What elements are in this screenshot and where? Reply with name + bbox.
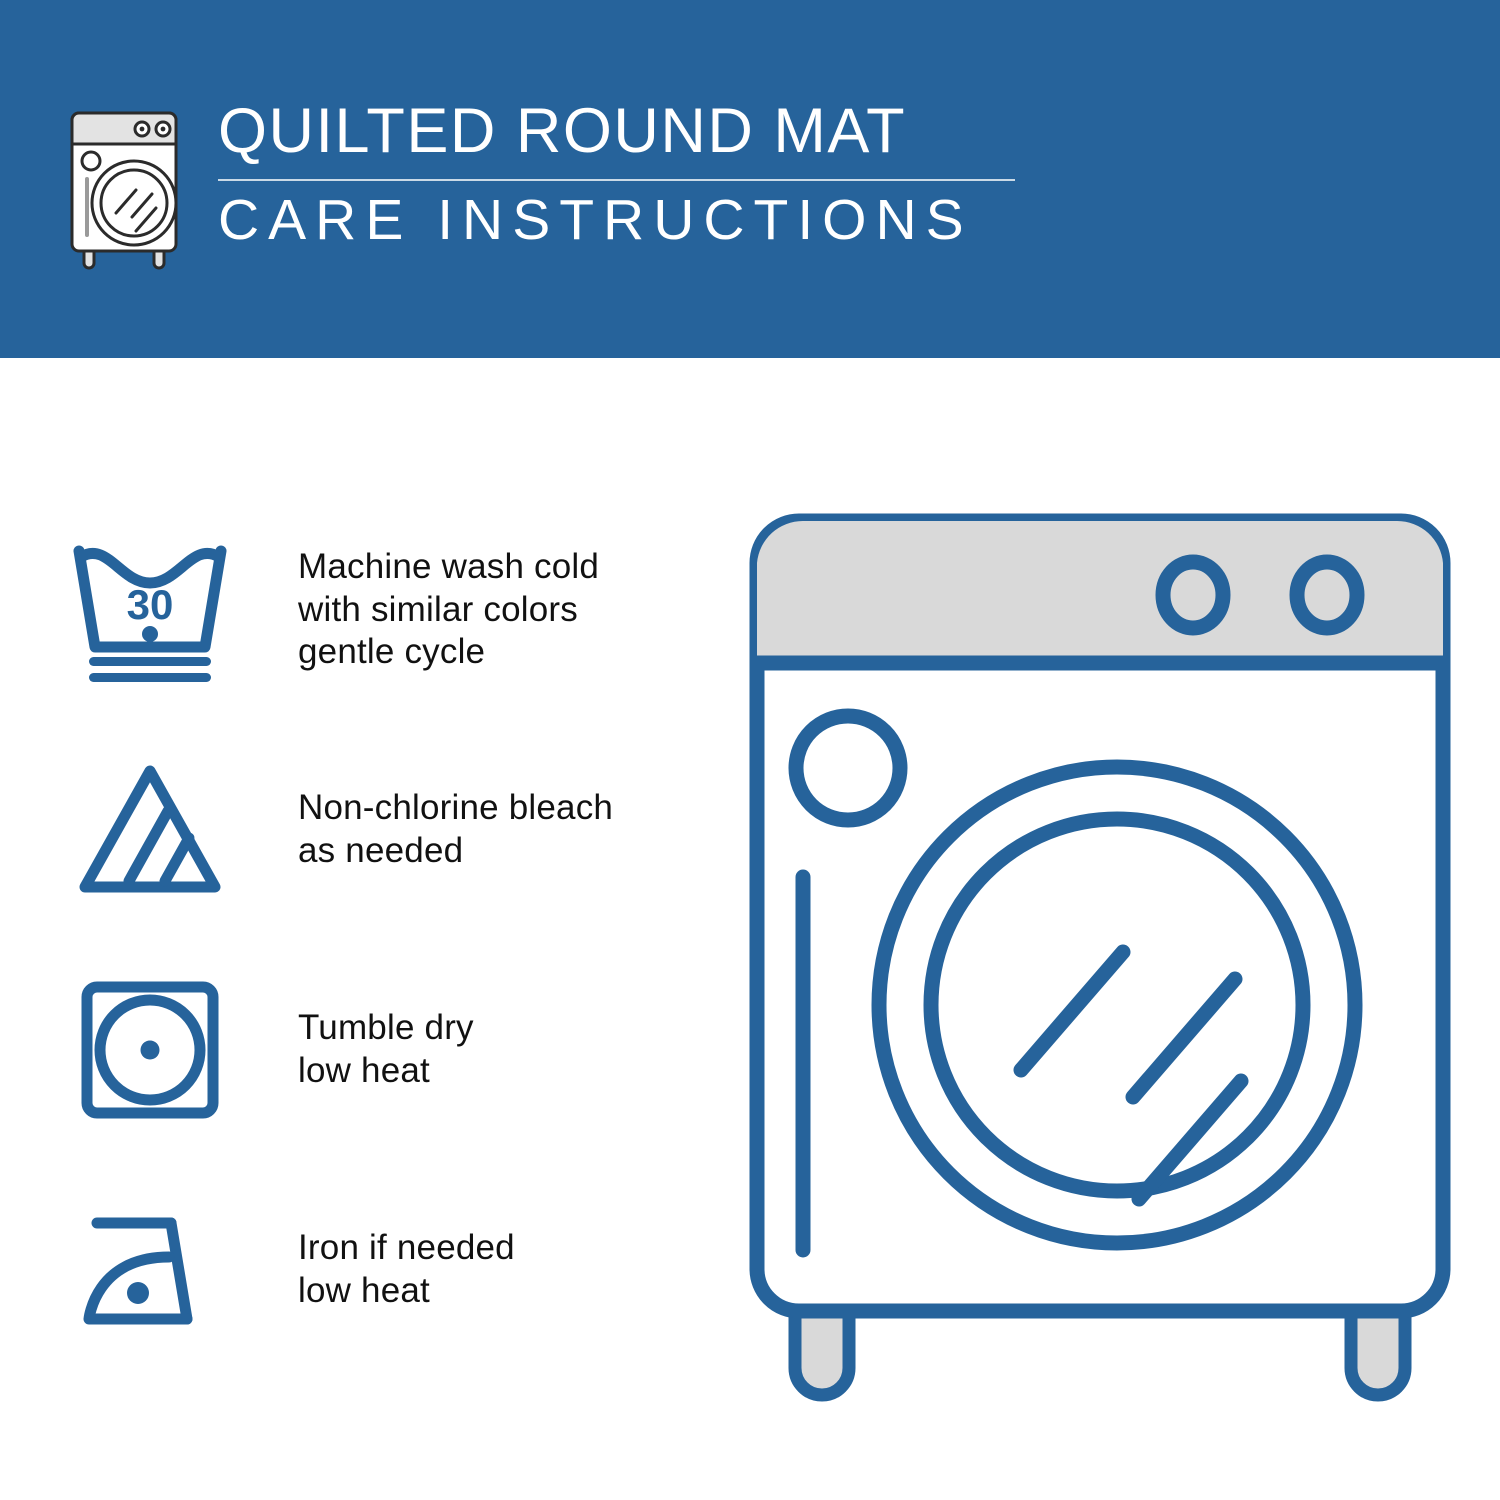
non-chlorine-bleach-triangle-icon (60, 755, 240, 905)
tumble-dry-low-icon (60, 975, 240, 1125)
iron-low-heat-icon (60, 1195, 240, 1345)
care-line: as needed (298, 830, 613, 873)
washer-knob-left (1163, 562, 1223, 628)
care-text-tumble-dry: Tumble dry low heat (298, 1007, 474, 1092)
page-title: QUILTED ROUND MAT (218, 100, 1018, 163)
care-row-bleach: Non-chlorine bleach as needed (60, 720, 740, 940)
care-row-tumble-dry: Tumble dry low heat (60, 940, 740, 1160)
care-line: Non-chlorine bleach (298, 787, 613, 830)
title-divider (218, 179, 1015, 181)
care-line: Tumble dry (298, 1007, 474, 1050)
washer-knob-right (1297, 562, 1357, 628)
wash-tub-30-icon: 30 (60, 535, 240, 685)
care-line: low heat (298, 1270, 515, 1313)
care-text-iron: Iron if needed low heat (298, 1227, 515, 1312)
care-instruction-list: 30 Machine wash cold with similar colors… (60, 500, 740, 1380)
care-line: Machine wash cold (298, 546, 599, 589)
washer-dispenser-icon (796, 716, 900, 820)
care-row-iron: Iron if needed low heat (60, 1160, 740, 1380)
care-line: with similar colors (298, 589, 599, 632)
care-row-machine-wash: 30 Machine wash cold with similar colors… (60, 500, 740, 720)
header-title-block: QUILTED ROUND MAT CARE INSTRUCTIONS (218, 100, 1018, 251)
washing-machine-icon (62, 105, 192, 270)
page-subtitle: CARE INSTRUCTIONS (218, 191, 1018, 251)
front-load-washing-machine-illustration (745, 505, 1455, 1405)
care-line: low heat (298, 1050, 474, 1093)
header-banner: QUILTED ROUND MAT CARE INSTRUCTIONS (0, 0, 1500, 358)
care-line: gentle cycle (298, 631, 599, 674)
wash-temperature-label: 30 (127, 581, 174, 628)
care-line: Iron if needed (298, 1227, 515, 1270)
care-text-machine-wash: Machine wash cold with similar colors ge… (298, 546, 599, 674)
care-text-bleach: Non-chlorine bleach as needed (298, 787, 613, 872)
